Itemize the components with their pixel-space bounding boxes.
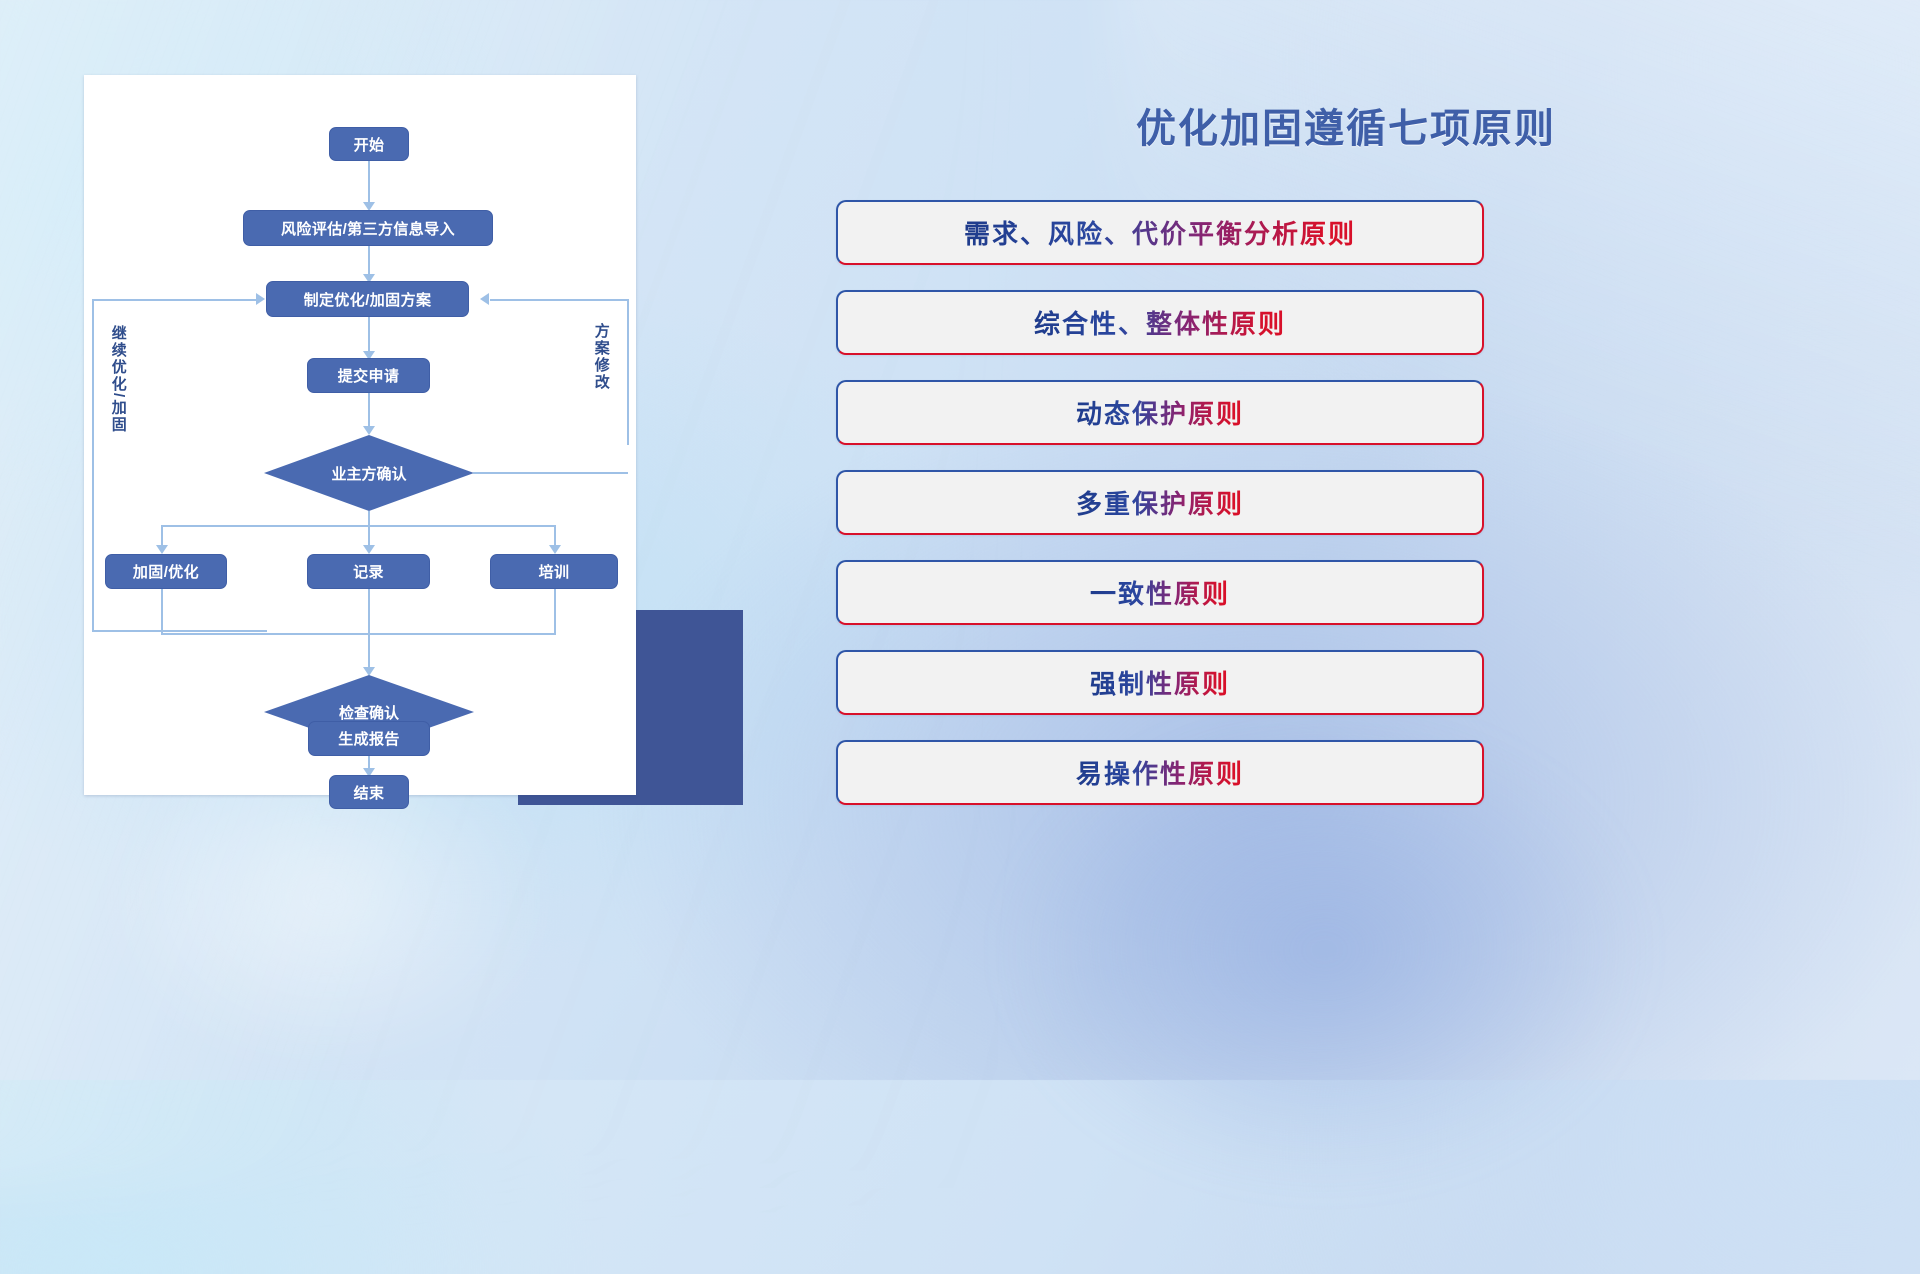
flow-node-start-label: 开始 [354,134,385,155]
flow-node-training[interactable]: 培训 [490,554,618,589]
connector-reinforce-down [161,589,163,635]
flow-node-end[interactable]: 结束 [329,775,409,809]
loop-right-vertical [627,299,629,445]
connector-training-down [554,589,556,635]
flowchart-panel: 开始 风险评估/第三方信息导入 制定优化/加固方案 继续优化/加固 [84,75,684,805]
flow-node-plan-label: 制定优化/加固方案 [304,289,432,310]
connector-owner-to-right-loop [473,472,628,474]
flow-node-record-label: 记录 [353,561,384,582]
flow-node-training-label: 培训 [539,561,570,582]
arrow-submit-to-owner [363,426,375,435]
principle-list: 需求、风险、代价平衡分析原则 综合性、整体性原则 动态保护原则 多重保护原则 一… [836,200,1484,830]
principle-item-1[interactable]: 需求、风险、代价平衡分析原则 [836,200,1484,265]
connector-three-split [161,525,555,527]
loop-right-top-horizontal [490,299,628,301]
flow-node-plan[interactable]: 制定优化/加固方案 [266,281,469,317]
flow-node-risk-assessment[interactable]: 风险评估/第三方信息导入 [243,210,493,246]
flowchart-canvas: 开始 风险评估/第三方信息导入 制定优化/加固方案 继续优化/加固 [84,75,636,795]
flow-node-start[interactable]: 开始 [329,127,409,161]
flow-node-reinforce-label: 加固/优化 [133,561,199,582]
principle-item-5[interactable]: 一致性原则 [836,560,1484,625]
arrow-to-reinforce [156,545,168,554]
flow-node-submit[interactable]: 提交申请 [307,358,430,393]
connector-record-down [368,589,370,673]
arrow-to-record [363,545,375,554]
panel-title: 优化加固遵循七项原则 [936,96,1756,154]
arrow-loop-right-into-plan [480,293,489,305]
flow-node-record[interactable]: 记录 [307,554,430,589]
arrow-loop-left-into-plan [256,293,265,305]
principle-label: 综合性、整体性原则 [1034,304,1286,341]
connector-three-merge [161,633,555,635]
flow-node-owner-confirm[interactable]: 业主方确认 [264,435,474,511]
connector-check-to-left-loop [92,630,267,632]
flow-side-label-left: 继续优化/加固 [110,325,126,433]
flow-node-report-label: 生成报告 [338,728,400,749]
principle-label: 多重保护原则 [1076,484,1244,521]
flow-node-check-confirm-label: 检查确认 [339,702,399,723]
principle-item-6[interactable]: 强制性原则 [836,650,1484,715]
connector-start-to-risk [368,161,370,208]
principle-label: 易操作性原则 [1076,754,1244,791]
flow-node-reinforce[interactable]: 加固/优化 [105,554,227,589]
flow-node-report[interactable]: 生成报告 [308,721,430,756]
principle-label: 需求、风险、代价平衡分析原则 [964,214,1356,251]
flow-node-submit-label: 提交申请 [338,365,400,386]
principle-label: 强制性原则 [1090,664,1230,701]
principle-label: 一致性原则 [1090,574,1230,611]
principle-item-4[interactable]: 多重保护原则 [836,470,1484,535]
arrow-to-training [549,545,561,554]
loop-left-top-horizontal [92,299,256,301]
principle-item-7[interactable]: 易操作性原则 [836,740,1484,805]
flow-side-label-right: 方案修改 [593,323,609,391]
loop-left-vertical [92,299,94,631]
principle-item-3[interactable]: 动态保护原则 [836,380,1484,445]
flow-node-end-label: 结束 [354,782,385,803]
flow-node-owner-confirm-label: 业主方确认 [331,463,406,484]
principles-panel: 优化加固遵循七项原则 需求、风险、代价平衡分析原则 综合性、整体性原则 动态保护… [836,78,1856,1018]
flow-node-risk-assessment-label: 风险评估/第三方信息导入 [281,218,455,239]
flowchart-card: 开始 风险评估/第三方信息导入 制定优化/加固方案 继续优化/加固 [84,75,636,795]
principle-label: 动态保护原则 [1076,394,1244,431]
principle-item-2[interactable]: 综合性、整体性原则 [836,290,1484,355]
